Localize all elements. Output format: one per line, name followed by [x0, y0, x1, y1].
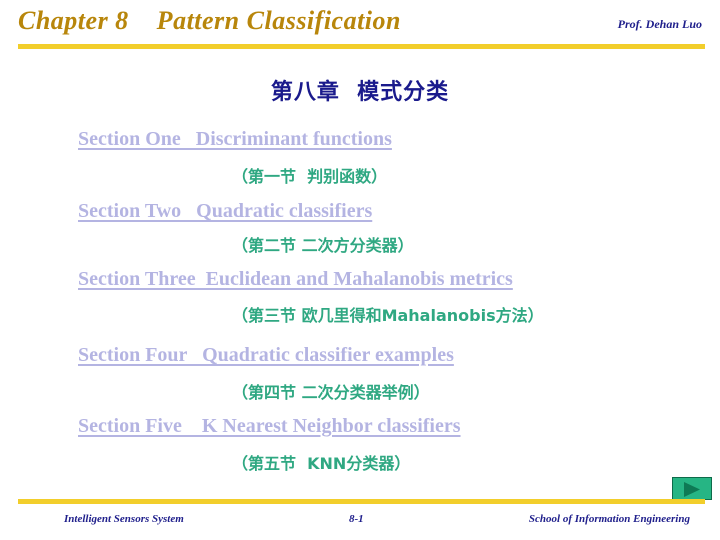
play-triangle-icon: [683, 482, 701, 497]
section-three-title[interactable]: Section Three Euclidean and Mahalanobis …: [78, 268, 513, 291]
page-title: Chapter 8 Pattern Classification: [18, 6, 401, 36]
author-label: Prof. Dehan Luo: [618, 17, 702, 32]
section-two-title[interactable]: Section Two Quadratic classifiers: [78, 200, 372, 223]
section-one-subtitle: （第一节 判别函数）: [232, 163, 387, 187]
section-two-subtitle: （第二节 二次方分类器）: [232, 232, 414, 256]
section-three-subtitle: （第三节 欧几里得和Mahalanobis方法）: [232, 302, 544, 326]
chinese-title: 第八章 模式分类: [0, 74, 720, 106]
footer-page-number: 8-1: [349, 513, 364, 525]
header-divider: [18, 44, 705, 49]
slide: Chapter 8 Pattern Classification Prof. D…: [0, 0, 720, 540]
section-four-subtitle: （第四节 二次分类器举例）: [232, 379, 430, 403]
footer-divider: [18, 499, 705, 504]
footer-school-label: School of Information Engineering: [529, 513, 690, 525]
section-five-subtitle: （第五节 KNN分类器）: [232, 450, 410, 474]
section-five-title[interactable]: Section Five K Nearest Neighbor classifi…: [78, 415, 461, 438]
section-one-title[interactable]: Section One Discriminant functions: [78, 128, 392, 151]
section-four-title[interactable]: Section Four Quadratic classifier exampl…: [78, 344, 454, 367]
next-slide-button[interactable]: [672, 477, 712, 500]
footer-course-label: Intelligent Sensors System: [64, 513, 184, 525]
